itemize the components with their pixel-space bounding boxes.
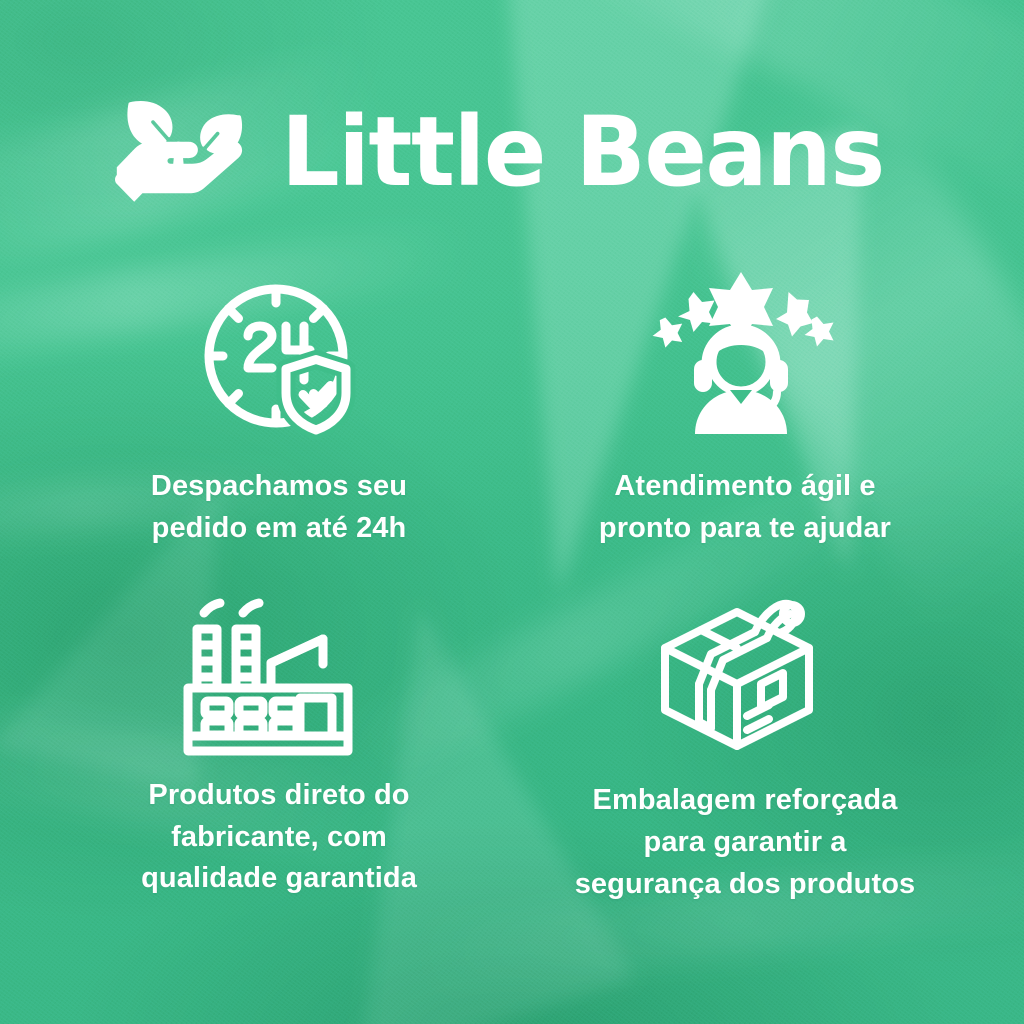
feature-shipping-line-2: pedido em até 24h xyxy=(151,508,407,550)
feature-packaging: Embalagem reforçada para garantir a segu… xyxy=(512,590,978,900)
feature-shipping-line-1: Despachamos seu xyxy=(151,466,407,508)
feature-factory-line-3: qualidade garantida xyxy=(141,858,417,900)
feature-packaging-line-2: para garantir a xyxy=(575,822,916,864)
feature-support-line-2: pronto para te ajudar xyxy=(599,508,891,550)
feature-factory: Produtos direto do fabricante, com quali… xyxy=(46,590,512,900)
feature-packaging-icon-wrap xyxy=(649,590,825,766)
feature-support-line-1: Atendimento ágil e xyxy=(599,466,891,508)
brand-header: Little Beans xyxy=(0,96,1024,208)
feature-factory-line-1: Produtos direto do xyxy=(141,775,417,817)
brand-name: Little Beans xyxy=(281,108,884,196)
feature-support-icon-wrap xyxy=(643,264,839,444)
feature-shipping-icon-wrap xyxy=(200,272,366,452)
feature-packaging-line-3: segurança dos produtos xyxy=(575,864,916,906)
feature-support-text: Atendimento ágil e pronto para te ajudar xyxy=(599,466,891,550)
features-grid: Despachamos seu pedido em até 24h xyxy=(46,272,978,900)
hand-holding-sprout-icon xyxy=(115,96,247,208)
feature-factory-line-2: fabricante, com xyxy=(141,817,417,859)
support-agent-headset-five-stars-icon xyxy=(643,268,839,440)
feature-factory-text: Produtos direto do fabricante, com quali… xyxy=(141,775,417,900)
clock-24h-shield-check-icon xyxy=(200,276,366,448)
feature-packaging-line-1: Embalagem reforçada xyxy=(575,780,916,822)
feature-shipping-text: Despachamos seu pedido em até 24h xyxy=(151,466,407,550)
feature-factory-icon-wrap xyxy=(183,590,363,761)
feature-packaging-text: Embalagem reforçada para garantir a segu… xyxy=(575,780,916,905)
factory-smokestacks-icon xyxy=(183,591,363,759)
taped-cardboard-box-icon xyxy=(649,590,825,766)
promo-banner: Little Beans xyxy=(0,0,1024,1024)
feature-shipping: Despachamos seu pedido em até 24h xyxy=(46,272,512,562)
feature-support: Atendimento ágil e pronto para te ajudar xyxy=(512,272,978,562)
